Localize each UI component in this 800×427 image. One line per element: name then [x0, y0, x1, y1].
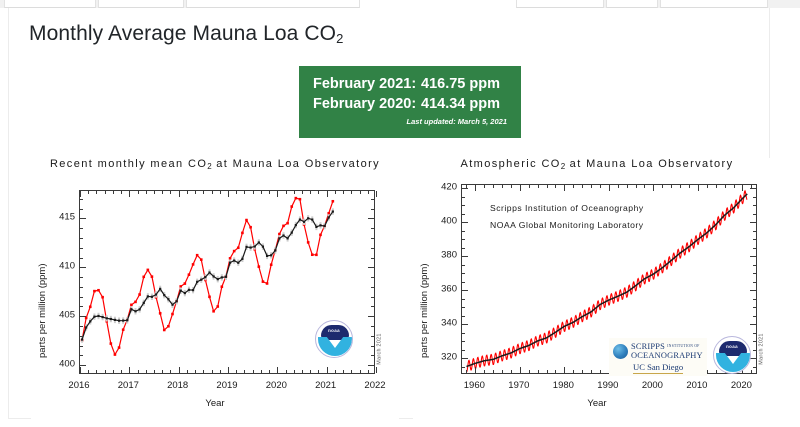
- axis-tick-minor: [600, 370, 601, 373]
- reading-value-2021: 416.75 ppm: [421, 74, 500, 94]
- axis-tick-minor: [462, 231, 465, 232]
- axis-tick: [564, 185, 565, 191]
- axis-tick-minor: [371, 306, 374, 307]
- axis-tick-minor: [671, 185, 672, 188]
- axis-tick-minor: [318, 191, 319, 194]
- axis-tick-minor: [502, 185, 503, 188]
- axis-tick-minor: [351, 370, 352, 373]
- chart-atmospheric-co2: Atmospheric CO2 at Mauna Loa Observatory…: [413, 158, 781, 420]
- axis-tick-minor: [636, 185, 637, 188]
- axis-tick-minor: [80, 228, 83, 229]
- axis-tick-minor: [220, 370, 221, 373]
- axis-tick-minor: [80, 346, 83, 347]
- axis-tick-minor: [187, 370, 188, 373]
- axis-tick-minor: [753, 188, 756, 189]
- axis-tick: [80, 191, 81, 197]
- axis-tick-minor: [113, 191, 114, 194]
- axis-tick-minor: [600, 185, 601, 188]
- axis-tick-minor: [302, 191, 303, 194]
- axis-tick-minor: [80, 297, 83, 298]
- axis-tick-minor: [88, 191, 89, 194]
- axis-tick: [653, 185, 654, 191]
- axis-tick-minor: [538, 185, 539, 188]
- axis-tick-minor: [462, 299, 465, 300]
- axis-tick-minor: [318, 370, 319, 373]
- axis-tick-minor: [573, 370, 574, 373]
- axis-tick-minor: [80, 199, 83, 200]
- axis-tick-minor: [80, 355, 83, 356]
- axis-tick-minor: [220, 191, 221, 194]
- y-axis-tick-label: 400: [37, 359, 75, 370]
- y-axis-tick-label: 400: [419, 216, 457, 227]
- axis-tick-minor: [371, 355, 374, 356]
- chart-stamp-recent: March 2021: [377, 333, 383, 364]
- axis-tick-minor: [244, 191, 245, 194]
- axis-tick-minor: [236, 370, 237, 373]
- axis-tick-minor: [146, 370, 147, 373]
- axis-tick: [376, 367, 377, 373]
- axis-tick-minor: [662, 185, 663, 188]
- axis-tick-minor: [138, 191, 139, 194]
- axis-tick-minor: [462, 214, 465, 215]
- axis-tick-minor: [244, 370, 245, 373]
- axis-tick-minor: [162, 370, 163, 373]
- axis-tick-minor: [462, 239, 465, 240]
- chart-title-full-main: Atmospheric CO: [460, 158, 560, 170]
- axis-tick-minor: [753, 358, 756, 359]
- axis-tick-minor: [371, 326, 374, 327]
- axis-tick: [376, 191, 377, 197]
- axis-tick-minor: [644, 185, 645, 188]
- y-axis-tick-label: 405: [37, 310, 75, 321]
- axis-tick-minor: [80, 248, 83, 249]
- x-axis-tick-label: 1970: [508, 380, 529, 391]
- annotation-noaa-gml: NOAA Global Monitoring Laboratory: [490, 220, 644, 230]
- axis-tick-minor: [753, 290, 756, 291]
- axis-tick-minor: [627, 185, 628, 188]
- axis-tick-minor: [511, 370, 512, 373]
- axis-tick-minor: [105, 191, 106, 194]
- page-title: Monthly Average Mauna Loa CO2: [29, 22, 343, 46]
- axis-tick-minor: [294, 370, 295, 373]
- axis-tick: [742, 185, 743, 191]
- axis-tick-minor: [269, 191, 270, 194]
- axis-tick-minor: [493, 185, 494, 188]
- axis-tick-minor: [310, 191, 311, 194]
- axis-tick-minor: [753, 231, 756, 232]
- reading-row-2020: February 2020: 414.34 ppm: [313, 94, 507, 114]
- axis-tick-minor: [753, 341, 756, 342]
- axis-tick-minor: [753, 299, 756, 300]
- browser-tab[interactable]: [516, 0, 604, 8]
- axis-tick: [698, 185, 699, 191]
- axis-tick-minor: [371, 346, 374, 347]
- x-axis-tick-label: 2022: [364, 380, 385, 391]
- axis-tick-minor: [462, 307, 465, 308]
- y-axis-tick-label: 340: [419, 318, 457, 329]
- axis-tick-minor: [195, 370, 196, 373]
- axis-tick-minor: [753, 350, 756, 351]
- axis-tick-minor: [538, 370, 539, 373]
- axis-tick-minor: [371, 267, 374, 268]
- axis-tick-minor: [80, 267, 83, 268]
- reading-value-2020: 414.34 ppm: [421, 94, 500, 114]
- scripps-logo: SCRIPPS INSTITUTION OF OCEANOGRAPHY UC S…: [609, 338, 707, 376]
- noaa-logo-text: noaa: [316, 328, 352, 333]
- chart-title-recent-main: Recent monthly mean CO: [50, 158, 207, 170]
- axis-tick-minor: [96, 370, 97, 373]
- axis-tick-minor: [462, 358, 465, 359]
- axis-tick: [228, 367, 229, 373]
- axis-tick-minor: [371, 277, 374, 278]
- axis-tick-minor: [371, 336, 374, 337]
- axis-tick-minor: [88, 370, 89, 373]
- reading-row-2021: February 2021: 416.75 ppm: [313, 74, 507, 94]
- axis-tick-minor: [371, 248, 374, 249]
- y-axis-tick-label: 415: [37, 212, 75, 223]
- axis-tick-minor: [371, 209, 374, 210]
- axis-tick-minor: [618, 185, 619, 188]
- axis-tick-minor: [351, 191, 352, 194]
- x-axis-tick-label: 2021: [315, 380, 336, 391]
- page-title-text: Monthly Average Mauna Loa CO: [29, 22, 336, 45]
- axis-tick-minor: [462, 273, 465, 274]
- axis-tick-minor: [261, 191, 262, 194]
- axis-tick-minor: [753, 205, 756, 206]
- axis-tick-minor: [502, 370, 503, 373]
- axis-tick: [520, 367, 521, 373]
- axis-tick-minor: [371, 316, 374, 317]
- axis-tick-minor: [154, 370, 155, 373]
- axis-tick-minor: [753, 367, 756, 368]
- axis-tick-minor: [371, 297, 374, 298]
- axis-tick-minor: [462, 205, 465, 206]
- axis-tick-minor: [371, 287, 374, 288]
- x-axis-tick-label: 2000: [642, 380, 663, 391]
- axis-tick-minor: [753, 214, 756, 215]
- y-axis-tick-label: 420: [419, 182, 457, 193]
- axis-tick-minor: [80, 326, 83, 327]
- axis-tick-minor: [573, 185, 574, 188]
- chart-title-recent: Recent monthly mean CO2 at Mauna Loa Obs…: [31, 158, 399, 171]
- axis-tick: [179, 191, 180, 197]
- axis-tick-minor: [286, 370, 287, 373]
- axis-tick: [80, 367, 81, 373]
- last-updated-text: Last updated: March 5, 2021: [313, 117, 507, 126]
- noaa-logo-full: noaa: [713, 336, 751, 374]
- axis-tick-minor: [371, 199, 374, 200]
- axis-tick: [129, 191, 130, 197]
- axis-tick-minor: [154, 191, 155, 194]
- x-axis-title-full: Year: [587, 398, 606, 409]
- axis-tick-minor: [371, 228, 374, 229]
- axis-tick-minor: [462, 256, 465, 257]
- axis-tick-minor: [529, 185, 530, 188]
- axis-tick-minor: [105, 370, 106, 373]
- axis-tick-minor: [462, 333, 465, 334]
- chart-stamp-full: March 2021: [759, 333, 765, 364]
- browser-tab[interactable]: [660, 0, 768, 8]
- axis-tick-minor: [80, 336, 83, 337]
- axis-tick: [179, 367, 180, 373]
- axis-tick-minor: [753, 273, 756, 274]
- chart-title-recent-suffix: at Mauna Loa Observatory: [212, 158, 380, 170]
- x-axis-tick-label: 1960: [464, 380, 485, 391]
- axis-tick: [475, 185, 476, 191]
- axis-tick-minor: [113, 370, 114, 373]
- axis-tick-minor: [753, 333, 756, 334]
- scripps-globe-icon: [613, 344, 628, 359]
- axis-tick-minor: [462, 265, 465, 266]
- axis-tick-minor: [689, 185, 690, 188]
- y-axis-tick-label: 410: [37, 261, 75, 272]
- axis-tick-minor: [725, 185, 726, 188]
- axis-tick-minor: [343, 191, 344, 194]
- axis-tick-minor: [212, 191, 213, 194]
- axis-tick-minor: [462, 350, 465, 351]
- axis-tick-minor: [753, 324, 756, 325]
- axis-tick-minor: [591, 370, 592, 373]
- axis-tick-minor: [195, 191, 196, 194]
- y-axis-title-full: parts per million (ppm): [419, 264, 430, 359]
- axis-tick: [327, 367, 328, 373]
- axis-tick: [520, 185, 521, 191]
- axis-tick-minor: [547, 185, 548, 188]
- axis-tick-minor: [751, 370, 752, 373]
- axis-tick-minor: [493, 370, 494, 373]
- axis-tick-minor: [529, 370, 530, 373]
- axis-tick-minor: [753, 239, 756, 240]
- axis-tick-minor: [302, 370, 303, 373]
- axis-tick-minor: [716, 370, 717, 373]
- axis-tick-minor: [310, 370, 311, 373]
- axis-tick: [129, 367, 130, 373]
- axis-tick: [277, 191, 278, 197]
- axis-tick-minor: [146, 191, 147, 194]
- chart-recent-monthly-mean: Recent monthly mean CO2 at Mauna Loa Obs…: [31, 158, 399, 420]
- axis-tick-minor: [371, 238, 374, 239]
- x-axis-tick-label: 2016: [68, 380, 89, 391]
- noaa-logo-text: noaa: [714, 344, 750, 349]
- axis-tick-minor: [343, 370, 344, 373]
- content-card: Monthly Average Mauna Loa CO2 February 2…: [8, 8, 770, 419]
- axis-tick-minor: [511, 185, 512, 188]
- page-root: Monthly Average Mauna Loa CO2 February 2…: [0, 0, 800, 427]
- axis-tick-minor: [80, 277, 83, 278]
- axis-tick-minor: [286, 191, 287, 194]
- axis-tick-minor: [335, 191, 336, 194]
- axis-tick-minor: [203, 370, 204, 373]
- axis-tick-minor: [591, 185, 592, 188]
- page-title-subscript: 2: [336, 31, 343, 46]
- axis-tick-minor: [582, 370, 583, 373]
- axis-tick-minor: [466, 370, 467, 373]
- axis-tick-minor: [162, 191, 163, 194]
- axis-tick-minor: [368, 191, 369, 194]
- axis-tick-minor: [462, 222, 465, 223]
- axis-tick-minor: [462, 248, 465, 249]
- axis-tick-minor: [753, 222, 756, 223]
- chart-title-full: Atmospheric CO2 at Mauna Loa Observatory: [413, 158, 781, 171]
- reading-label-2021: February 2021:: [313, 74, 421, 94]
- axis-tick-minor: [680, 185, 681, 188]
- x-axis-tick-label: 2010: [686, 380, 707, 391]
- axis-tick-minor: [462, 197, 465, 198]
- axis-tick-minor: [462, 282, 465, 283]
- x-axis-tick-label: 1990: [597, 380, 618, 391]
- axis-tick-minor: [335, 370, 336, 373]
- axis-tick-minor: [96, 191, 97, 194]
- axis-tick-minor: [187, 191, 188, 194]
- axis-tick-minor: [753, 197, 756, 198]
- axis-tick-minor: [360, 191, 361, 194]
- axis-tick: [228, 191, 229, 197]
- axis-tick-minor: [269, 370, 270, 373]
- browser-tabstrip: [0, 0, 800, 8]
- axis-tick-minor: [203, 191, 204, 194]
- axis-tick-minor: [80, 258, 83, 259]
- axis-tick-minor: [462, 316, 465, 317]
- axis-tick-minor: [253, 370, 254, 373]
- axis-tick: [609, 185, 610, 191]
- reading-label-2020: February 2020:: [313, 94, 421, 114]
- axis-tick-minor: [80, 306, 83, 307]
- x-axis-tick-label: 2020: [266, 380, 287, 391]
- scripps-logo-line2: OCEANOGRAPHY: [631, 351, 703, 360]
- browser-tab[interactable]: [186, 0, 360, 8]
- tabstrip-fill: [360, 0, 516, 8]
- axis-tick-minor: [80, 316, 83, 317]
- axis-tick: [564, 367, 565, 373]
- axis-tick-minor: [462, 324, 465, 325]
- axis-tick-minor: [734, 185, 735, 188]
- x-axis-tick-label: 2020: [731, 380, 752, 391]
- axis-tick-minor: [261, 370, 262, 373]
- axis-tick-minor: [753, 248, 756, 249]
- y-axis-tick-label: 320: [419, 352, 457, 363]
- x-axis-title-recent: Year: [205, 398, 224, 409]
- axis-tick-minor: [170, 191, 171, 194]
- axis-tick-minor: [371, 258, 374, 259]
- axis-tick-minor: [121, 191, 122, 194]
- axis-tick-minor: [753, 307, 756, 308]
- y-axis-tick-label: 360: [419, 284, 457, 295]
- browser-tab[interactable]: [606, 0, 658, 8]
- axis-tick: [327, 191, 328, 197]
- chart-title-full-suffix: at Mauna Loa Observatory: [565, 158, 733, 170]
- axis-tick: [277, 367, 278, 373]
- axis-tick-minor: [138, 370, 139, 373]
- axis-tick-minor: [253, 191, 254, 194]
- axis-tick-minor: [80, 287, 83, 288]
- axis-tick-minor: [555, 185, 556, 188]
- axis-tick-minor: [753, 282, 756, 283]
- axis-tick-minor: [707, 185, 708, 188]
- browser-tab[interactable]: [4, 0, 96, 8]
- axis-tick-minor: [170, 370, 171, 373]
- x-axis-tick-label: 2019: [216, 380, 237, 391]
- noaa-logo-recent: noaa: [315, 320, 353, 358]
- axis-tick-minor: [371, 218, 374, 219]
- axis-tick-minor: [80, 238, 83, 239]
- axis-tick-minor: [547, 370, 548, 373]
- axis-tick-minor: [484, 185, 485, 188]
- axis-tick-minor: [371, 365, 374, 366]
- axis-tick-minor: [80, 218, 83, 219]
- latest-readings-box: February 2021: 416.75 ppm February 2020:…: [299, 66, 521, 138]
- scripps-institution-of: INSTITUTION OF: [667, 344, 699, 348]
- annotation-scripps: Scripps Institution of Oceanography: [490, 203, 644, 213]
- axis-tick-minor: [212, 370, 213, 373]
- axis-tick-minor: [555, 370, 556, 373]
- y-axis-tick-label: 380: [419, 250, 457, 261]
- axis-tick-minor: [462, 290, 465, 291]
- axis-tick-minor: [462, 188, 465, 189]
- axis-tick-minor: [80, 209, 83, 210]
- x-axis-tick-label: 2018: [167, 380, 188, 391]
- axis-tick-minor: [753, 316, 756, 317]
- axis-tick-minor: [462, 341, 465, 342]
- axis-tick: [475, 367, 476, 373]
- axis-tick-minor: [716, 185, 717, 188]
- axis-tick-minor: [368, 370, 369, 373]
- axis-tick-minor: [80, 365, 83, 366]
- axis-tick-minor: [236, 191, 237, 194]
- axis-tick-minor: [360, 370, 361, 373]
- scripps-logo-line3: UC San Diego: [633, 362, 683, 374]
- axis-tick-minor: [484, 370, 485, 373]
- axis-tick-minor: [753, 265, 756, 266]
- browser-tab[interactable]: [98, 0, 184, 8]
- x-axis-tick-label: 2017: [118, 380, 139, 391]
- axis-tick-minor: [753, 256, 756, 257]
- axis-tick-minor: [462, 367, 465, 368]
- axis-tick-minor: [294, 191, 295, 194]
- x-axis-tick-label: 1980: [553, 380, 574, 391]
- axis-tick-minor: [121, 370, 122, 373]
- axis-tick-minor: [582, 185, 583, 188]
